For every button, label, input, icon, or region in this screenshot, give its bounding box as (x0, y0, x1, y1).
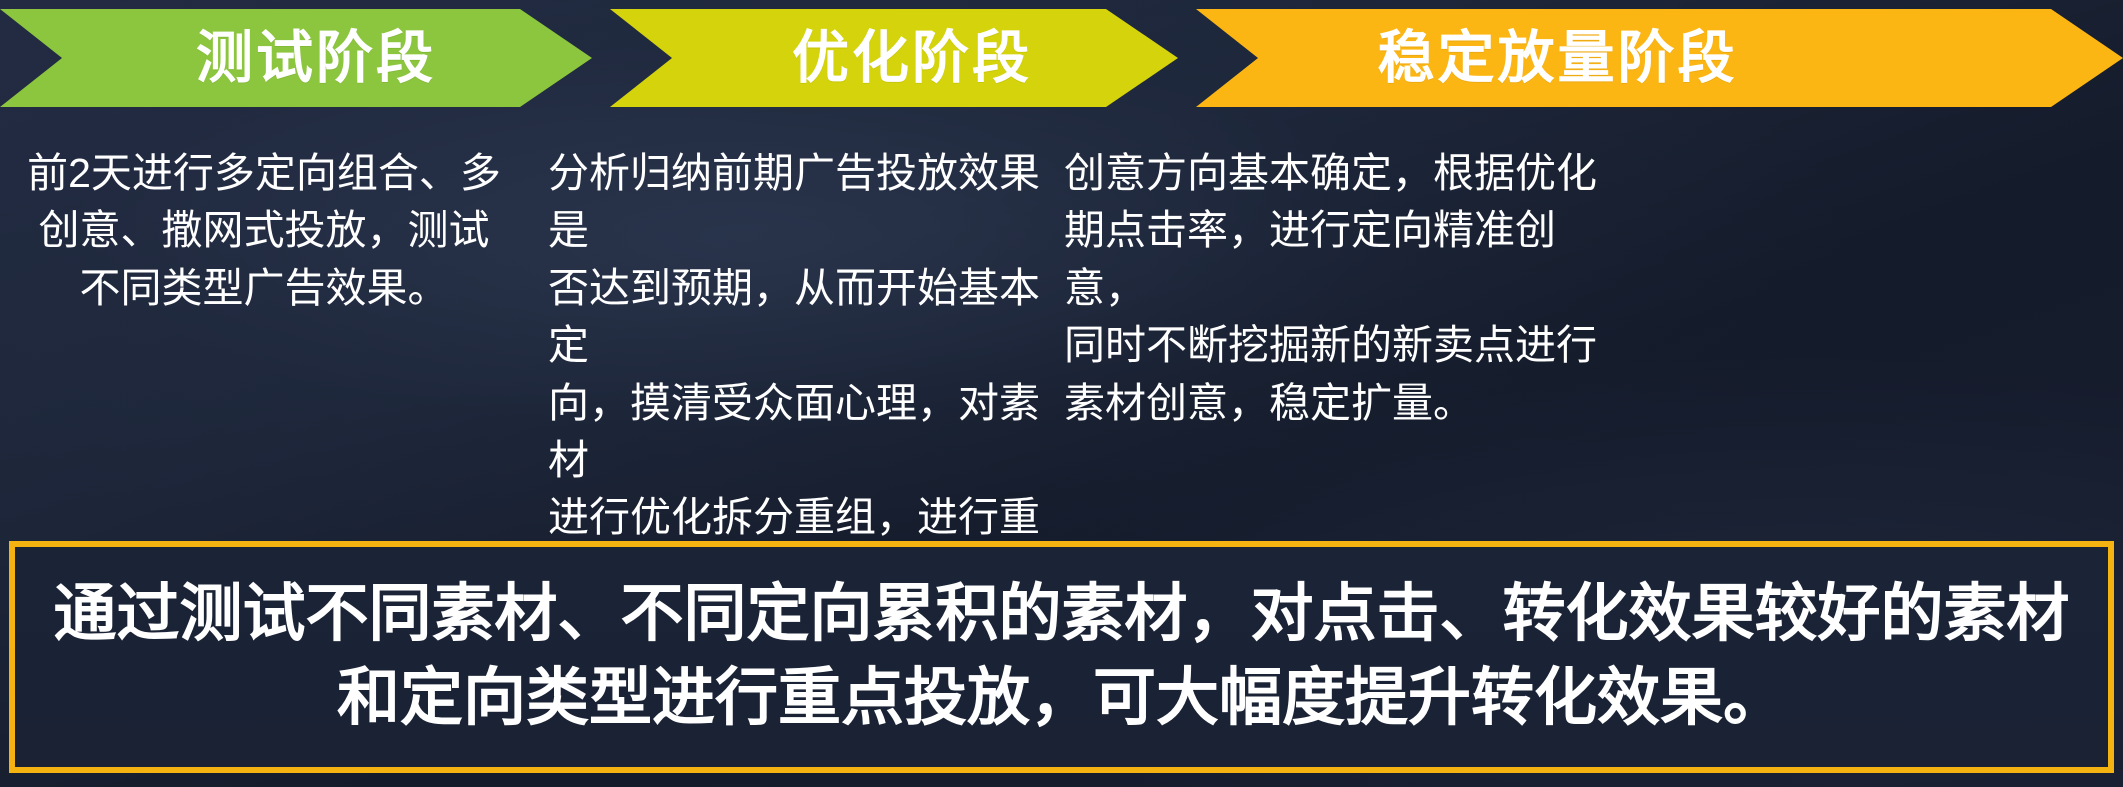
stage-banner-test-label: 测试阶段 (196, 30, 436, 87)
stage-banner-optimize[interactable]: 优化阶段 (610, 9, 1178, 107)
stage-description-columns: 前2天进行多定向组合、多 创意、撒网式投放，测试 不同类型广告效果。 分析归纳前… (0, 145, 2123, 385)
stage-infographic: 测试阶段 优化阶段 稳定放量阶段 前2天进行多定向组合、多 创意、撒网式投放，测… (0, 0, 2123, 787)
stage-banner-optimize-label: 优化阶段 (792, 30, 1032, 87)
summary-callout-box: 通过测试不同素材、不同定向累积的素材，对点击、转化效果较好的素材 和定向类型进行… (9, 541, 2114, 773)
stage-banner-row: 测试阶段 优化阶段 稳定放量阶段 (0, 9, 2123, 107)
summary-callout-text: 通过测试不同素材、不同定向累积的素材，对点击、转化效果较好的素材 和定向类型进行… (32, 573, 2092, 741)
stage-banner-scale-label: 稳定放量阶段 (1378, 30, 1738, 87)
stage-description-scale: 创意方向基本确定，根据优化 期点击率，进行定向精准创意， 同时不断挖掘新的新卖点… (1064, 145, 1604, 432)
stage-description-test: 前2天进行多定向组合、多 创意、撒网式投放，测试 不同类型广告效果。 (14, 145, 514, 317)
stage-banner-scale[interactable]: 稳定放量阶段 (1196, 9, 2123, 107)
stage-banner-test[interactable]: 测试阶段 (0, 9, 592, 107)
